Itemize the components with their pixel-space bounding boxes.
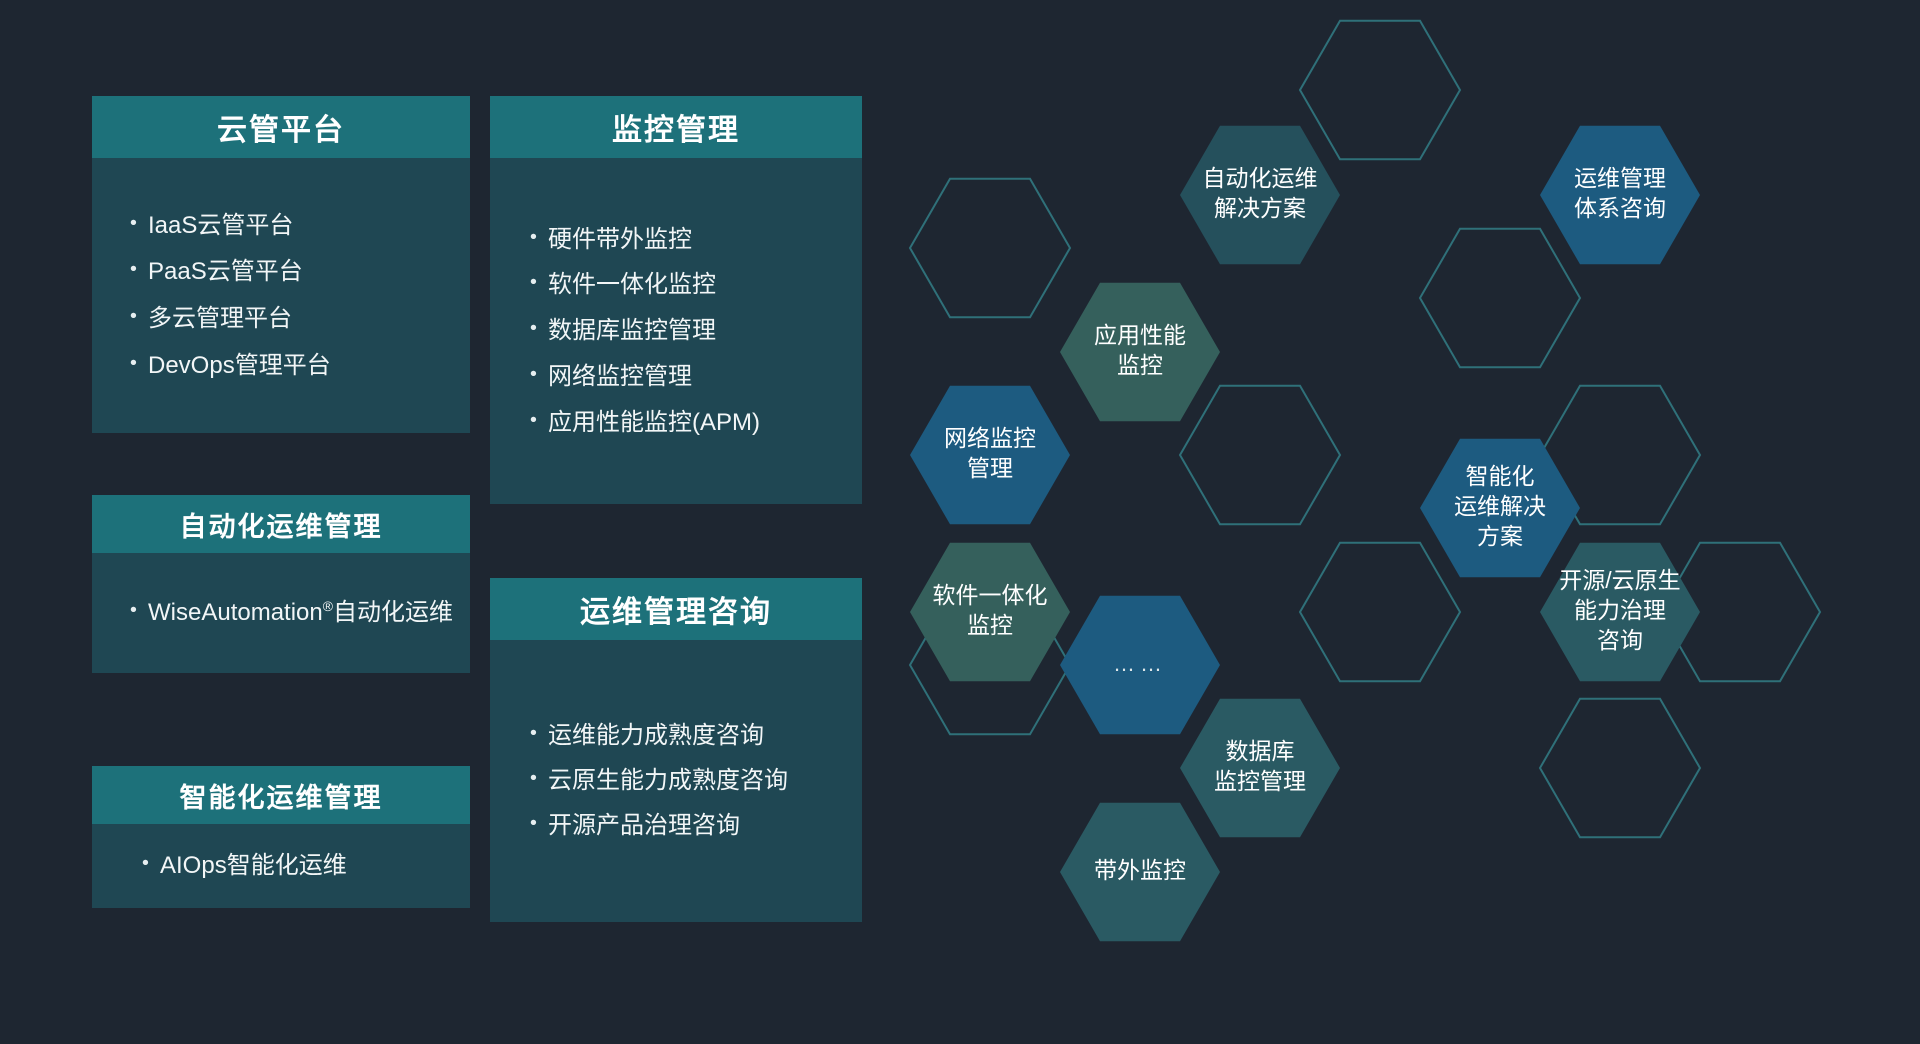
list-item: 云原生能力成熟度咨询 (526, 765, 862, 797)
list-item: 数据库监控管理 (526, 315, 862, 347)
card-aiops: 智能化运维管理 AIOps智能化运维 (92, 766, 470, 908)
hexagon-label-line: 方案 (1477, 523, 1523, 549)
card-aiops-list: AIOps智能化运维 (138, 848, 470, 884)
hexagon-empty-mid-center (1180, 386, 1340, 525)
hexagon-empty-upper-right (1420, 229, 1580, 368)
list-item: IaaS云管平台 (126, 210, 470, 242)
list-item: 运维能力成熟度咨询 (526, 720, 862, 752)
hexagon-aiops-solution[interactable]: 智能化运维解决方案 (1420, 439, 1580, 578)
list-item: DevOps管理平台 (126, 350, 470, 382)
card-consulting-title: 运维管理咨询 (490, 578, 862, 640)
hexagon-more-ellipsis[interactable]: …… (1060, 596, 1220, 735)
list-item: 软件一体化监控 (526, 269, 862, 301)
hexagon-out-of-band[interactable]: 带外监控 (1060, 803, 1220, 942)
list-item: WiseAutomation®自动化运维 (126, 597, 470, 629)
card-automation-title: 自动化运维管理 (92, 495, 470, 553)
hexagon-label-line: 运维解决 (1454, 493, 1546, 519)
hexagon-empty-top-left (910, 179, 1070, 318)
infographic-root: 云管平台 IaaS云管平台 PaaS云管平台 多云管理平台 DevOps管理平台… (0, 0, 1920, 1044)
hexagon-label-line: 监控 (1117, 352, 1163, 378)
hexagon-label-line: …… (1113, 651, 1167, 676)
hexagon-shape (1300, 21, 1460, 160)
hexagon-empty-top-far (1300, 21, 1460, 160)
hexagon-label-line: 网络监控 (944, 425, 1036, 451)
hexagon-label-line: 咨询 (1597, 627, 1643, 653)
hexagon-shape (1540, 699, 1700, 838)
hexagon-app-performance[interactable]: 应用性能监控 (1060, 283, 1220, 422)
list-item: 多云管理平台 (126, 303, 470, 335)
list-item: 应用性能监控(APM) (526, 407, 862, 439)
hexagon-label-line: 体系咨询 (1574, 195, 1666, 221)
hexagon-label-line: 软件一体化 (933, 582, 1048, 608)
list-item: 开源产品治理咨询 (526, 810, 862, 842)
card-monitoring: 监控管理 硬件带外监控 软件一体化监控 数据库监控管理 网络监控管理 应用性能监… (490, 96, 862, 504)
card-monitoring-body: 硬件带外监控 软件一体化监控 数据库监控管理 网络监控管理 应用性能监控(APM… (490, 158, 862, 504)
list-item: 硬件带外监控 (526, 224, 862, 256)
list-item: AIOps智能化运维 (138, 850, 470, 882)
hexagon-label-line: 解决方案 (1214, 195, 1306, 221)
card-aiops-title: 智能化运维管理 (92, 766, 470, 824)
card-automation-body: WiseAutomation®自动化运维 (92, 553, 470, 673)
hexagon-label-line: 运维管理 (1574, 165, 1666, 191)
card-automation: 自动化运维管理 WiseAutomation®自动化运维 (92, 495, 470, 673)
capability-cards-panel: 云管平台 IaaS云管平台 PaaS云管平台 多云管理平台 DevOps管理平台… (0, 0, 880, 1044)
card-monitoring-list: 硬件带外监控 软件一体化监控 数据库监控管理 网络监控管理 应用性能监控(APM… (526, 210, 862, 452)
hexagon-label-line: 开源/云原生 (1559, 567, 1680, 593)
card-monitoring-title: 监控管理 (490, 96, 862, 158)
hexagon-shape (910, 179, 1070, 318)
hexagon-network-monitoring[interactable]: 网络监控管理 (910, 386, 1070, 525)
hexagon-diagram: 网络监控管理应用性能监控自动化运维解决方案运维管理体系咨询软件一体化监控智能化运… (880, 0, 1920, 1044)
hexagon-label-line: 监控 (967, 612, 1013, 638)
hexagon-shape (1300, 543, 1460, 682)
hexagon-shape (1420, 229, 1580, 368)
hexagon-label-line: 应用性能 (1094, 322, 1186, 348)
hexagon-empty-center-low (1300, 543, 1460, 682)
hexagon-software-monitoring[interactable]: 软件一体化监控 (910, 543, 1070, 682)
hexagon-label-line: 能力治理 (1574, 597, 1666, 623)
card-cloud-platform-body: IaaS云管平台 PaaS云管平台 多云管理平台 DevOps管理平台 (92, 158, 470, 433)
hexagon-ops-system-consult[interactable]: 运维管理体系咨询 (1540, 126, 1700, 265)
hexagon-database-monitoring[interactable]: 数据库监控管理 (1180, 699, 1340, 838)
hexagon-label-line: 智能化 (1466, 463, 1535, 489)
card-cloud-platform-list: IaaS云管平台 PaaS云管平台 多云管理平台 DevOps管理平台 (126, 195, 470, 397)
hexagon-label-line: 数据库 (1226, 738, 1295, 764)
card-cloud-platform: 云管平台 IaaS云管平台 PaaS云管平台 多云管理平台 DevOps管理平台 (92, 96, 470, 433)
card-consulting: 运维管理咨询 运维能力成熟度咨询 云原生能力成熟度咨询 开源产品治理咨询 (490, 578, 862, 922)
hexagon-opensource-consult[interactable]: 开源/云原生能力治理咨询 (1540, 543, 1700, 682)
card-cloud-platform-title: 云管平台 (92, 96, 470, 158)
card-aiops-body: AIOps智能化运维 (92, 824, 470, 908)
hexagon-empty-lower-right (1540, 699, 1700, 838)
hexagon-cluster-panel: 网络监控管理应用性能监控自动化运维解决方案运维管理体系咨询软件一体化监控智能化运… (880, 0, 1920, 1044)
list-item: PaaS云管平台 (126, 256, 470, 288)
hexagon-label-line: 监控管理 (1214, 768, 1306, 794)
hexagon-shape (1180, 386, 1340, 525)
hexagon-label-line: 带外监控 (1094, 857, 1186, 883)
hexagon-label-line: 管理 (967, 455, 1013, 481)
hexagon-automation-solution[interactable]: 自动化运维解决方案 (1180, 126, 1340, 265)
card-consulting-list: 运维能力成熟度咨询 云原生能力成熟度咨询 开源产品治理咨询 (526, 707, 862, 854)
card-automation-list: WiseAutomation®自动化运维 (126, 593, 470, 633)
hexagon-label-line: 自动化运维 (1203, 165, 1318, 191)
card-consulting-body: 运维能力成熟度咨询 云原生能力成熟度咨询 开源产品治理咨询 (490, 640, 862, 922)
list-item: 网络监控管理 (526, 361, 862, 393)
